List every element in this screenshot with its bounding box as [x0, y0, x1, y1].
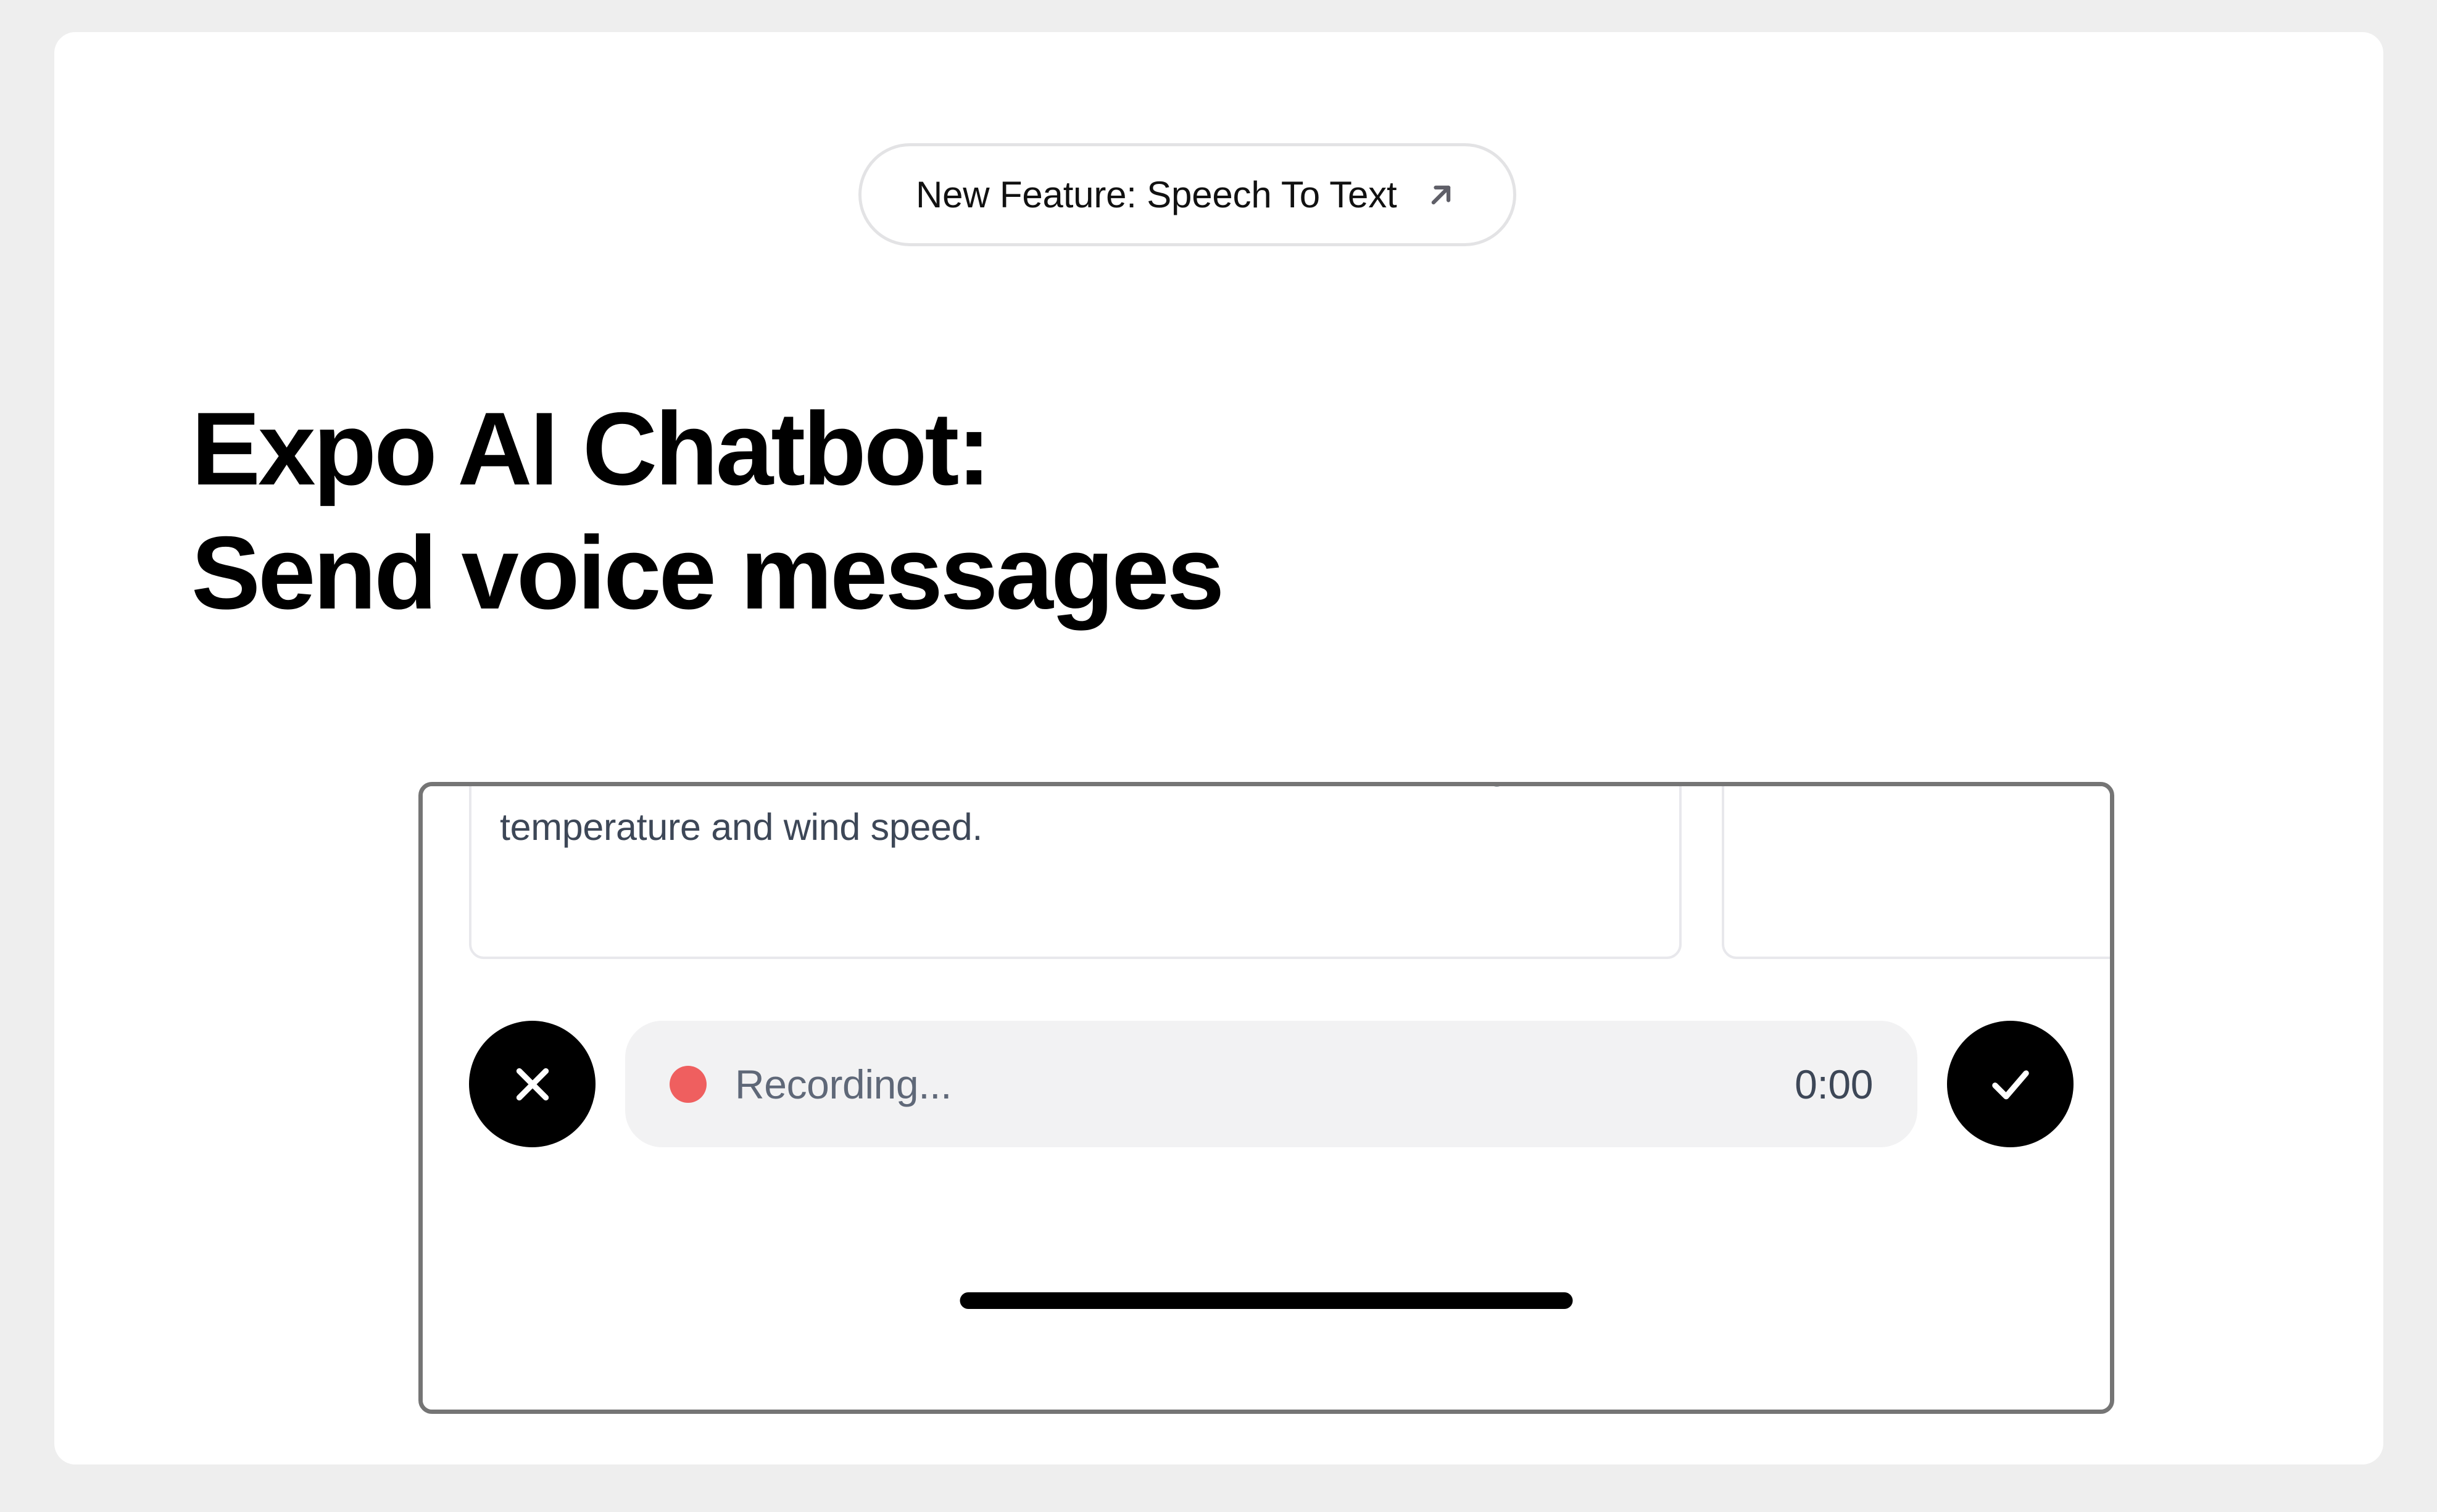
page-card: New Feature: Speech To Text Expo AI Chat…	[54, 32, 2383, 1464]
device-screen: Get detailed weather information for San…	[423, 782, 2110, 1414]
recording-status-pill[interactable]: Recording... 0:00	[625, 1021, 1917, 1147]
new-feature-badge[interactable]: New Feature: Speech To Text	[858, 143, 1516, 246]
cancel-recording-button[interactable]	[469, 1021, 596, 1147]
home-indicator[interactable]	[960, 1292, 1573, 1309]
headline-line-1: Expo AI Chatbot:	[191, 391, 989, 507]
suggestion-card-text: Create a well Silicon Valley' innovation…	[1753, 782, 2114, 797]
page-title: Expo AI Chatbot: Send voice messages	[191, 387, 1222, 636]
check-icon	[1984, 1058, 2037, 1111]
headline-line-2: Send voice messages	[191, 515, 1222, 631]
close-icon	[506, 1058, 559, 1111]
suggestion-card-list: Get detailed weather information for San…	[469, 782, 2114, 959]
arrow-up-right-icon	[1423, 177, 1459, 213]
suggestion-card-silicon-valley[interactable]: Create a well Silicon Valley' innovation…	[1722, 782, 2114, 959]
confirm-recording-button[interactable]	[1947, 1021, 2074, 1147]
recording-status-label: Recording...	[735, 1061, 952, 1108]
voice-recorder-bar: Recording... 0:00	[469, 1021, 2074, 1147]
recording-indicator-dot	[670, 1066, 707, 1103]
suggestion-card-weather[interactable]: Get detailed weather information for San…	[469, 782, 1682, 959]
device-frame: Get detailed weather information for San…	[418, 782, 2114, 1414]
recording-timer: 0:00	[1795, 1061, 1873, 1108]
suggestion-card-text: Get detailed weather information for San…	[500, 782, 1651, 858]
new-feature-label: New Feature: Speech To Text	[916, 177, 1397, 214]
